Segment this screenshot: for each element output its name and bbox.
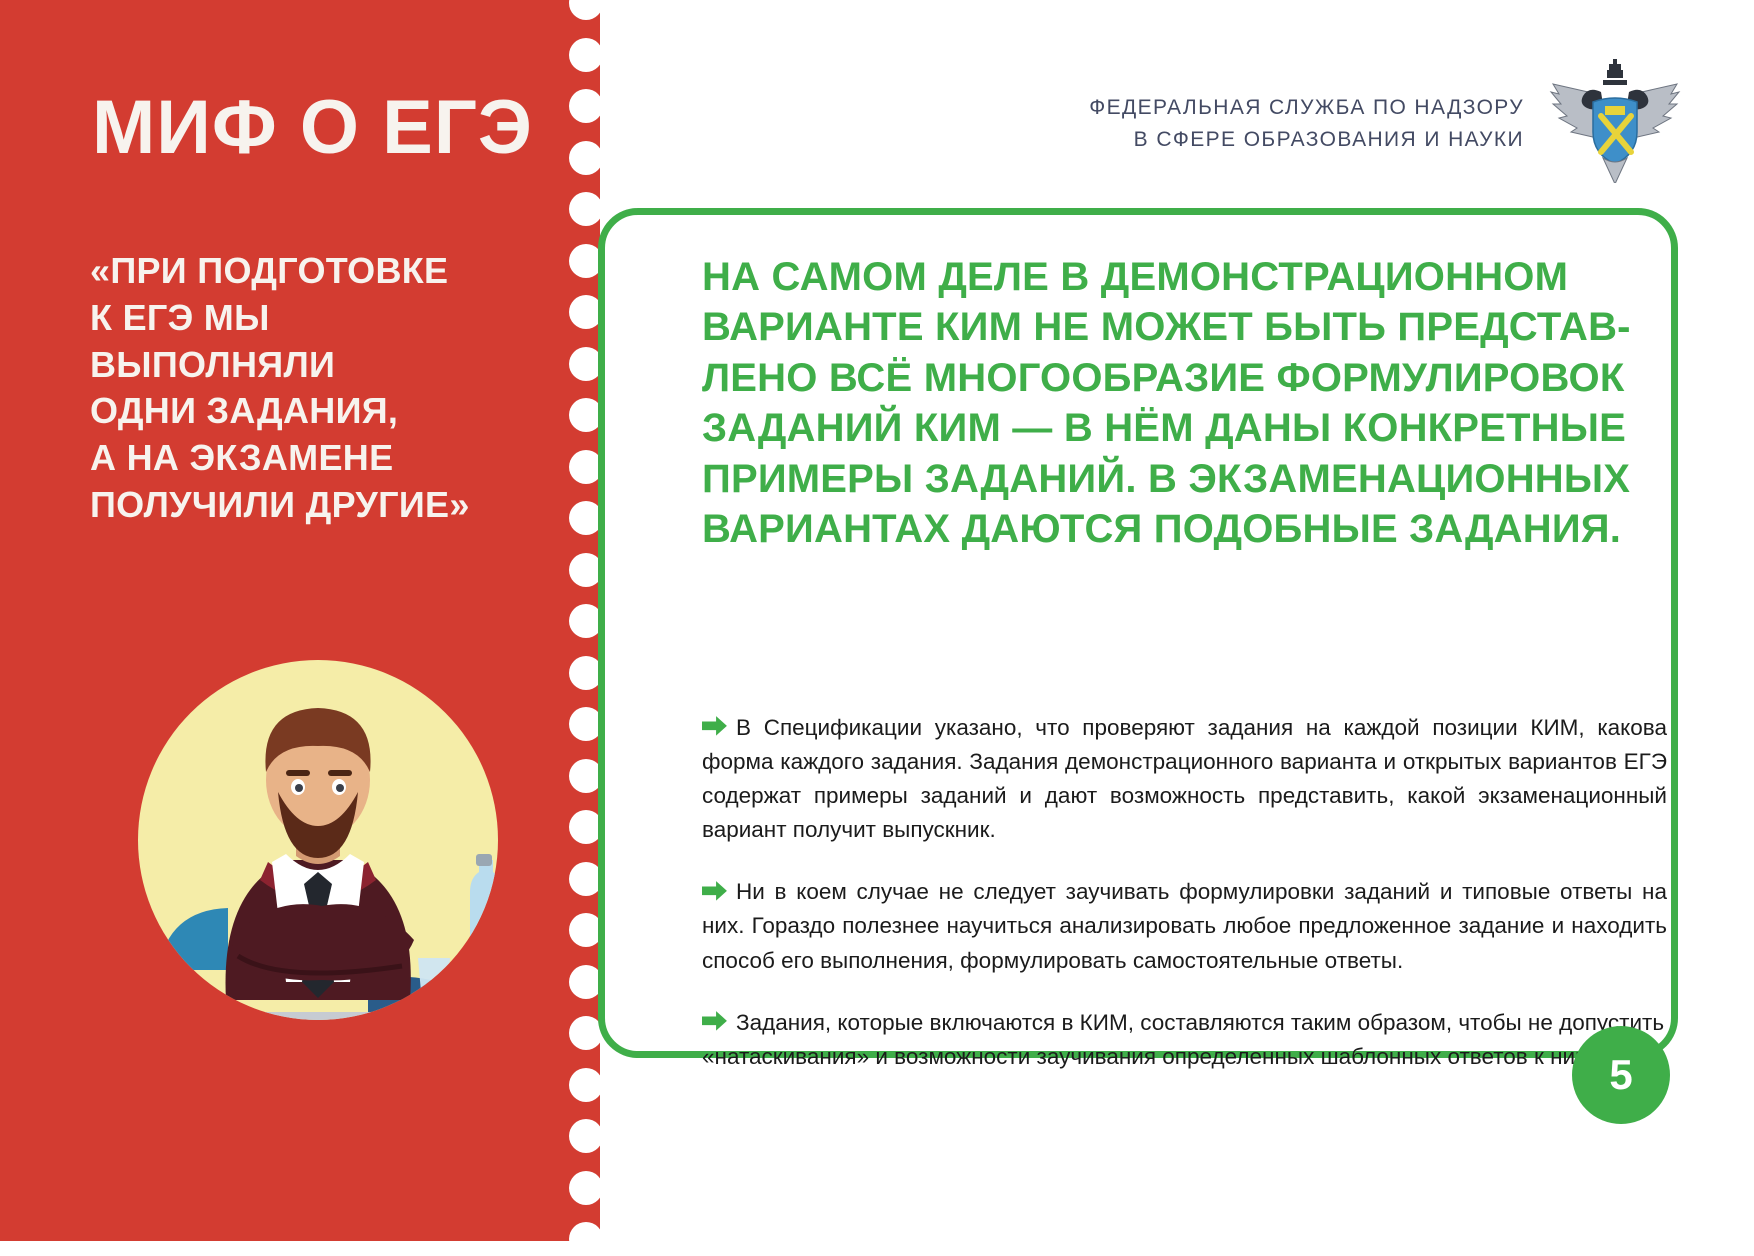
agency-header: ФЕДЕРАЛЬНАЯ СЛУЖБА ПО НАДЗОРУ В СФЕРЕ ОБ… — [1004, 92, 1524, 155]
headline-line: НА САМОМ ДЕЛЕ В ДЕМОНСТРАЦИОННОМ — [702, 252, 1652, 302]
quote-line: ВЫПОЛНЯЛИ — [90, 342, 560, 389]
body-paragraph: Ни в коем случае не следует заучивать фо… — [702, 875, 1667, 978]
headline-line: ПРИМЕРЫ ЗАДАНИЙ. В ЭКЗАМЕНАЦИОННЫХ — [702, 454, 1652, 504]
body-paragraph-list: В Спецификации указано, что проверяют за… — [702, 688, 1667, 1074]
headline-line: ВАРИАНТЕ КИМ НЕ МОЖЕТ БЫТЬ ПРЕДСТАВ- — [702, 302, 1652, 352]
rosobrnadzor-emblem-icon — [1545, 58, 1685, 183]
answer-headline: НА САМОМ ДЕЛЕ В ДЕМОНСТРАЦИОННОМ ВАРИАНТ… — [702, 252, 1652, 554]
perforation-hole — [569, 1171, 603, 1205]
left-red-panel: МИФ О ЕГЭ «ПРИ ПОДГОТОВКЕ К ЕГЭ МЫ ВЫПОЛ… — [0, 0, 600, 1241]
agency-name-line-1: ФЕДЕРАЛЬНАЯ СЛУЖБА ПО НАДЗОРУ — [1004, 92, 1524, 124]
page-title-text: МИФ О ЕГЭ — [92, 85, 533, 170]
arrow-right-icon — [702, 1010, 728, 1032]
page-title: МИФ О ЕГЭ — [92, 92, 562, 164]
perforation-hole — [569, 141, 603, 175]
quote-line: К ЕГЭ МЫ — [90, 295, 560, 342]
myth-quote: «ПРИ ПОДГОТОВКЕ К ЕГЭ МЫ ВЫПОЛНЯЛИ ОДНИ … — [90, 248, 560, 529]
headline-line: ЛЕНО ВСЁ МНОГООБРАЗИЕ ФОРМУЛИРОВОК — [702, 353, 1652, 403]
perforation-hole — [569, 192, 603, 226]
arrow-right-icon — [702, 880, 728, 902]
arrow-right-icon — [702, 715, 728, 737]
quote-line: «ПРИ ПОДГОТОВКЕ — [90, 248, 560, 295]
quote-line: ПОЛУЧИЛИ ДРУГИЕ» — [90, 482, 560, 529]
perforation-hole — [569, 1119, 603, 1153]
quote-line: ОДНИ ЗАДАНИЯ, — [90, 388, 560, 435]
man-at-desk-illustration — [118, 640, 518, 1040]
perforation-hole — [569, 1222, 603, 1256]
perforation-hole — [569, 38, 603, 72]
headline-line: ВАРИАНТАХ ДАЮТСЯ ПОДОБНЫЕ ЗАДАНИЯ. — [702, 504, 1652, 554]
page-number-badge: 5 — [1572, 1026, 1670, 1124]
body-paragraph-text: Ни в коем случае не следует заучивать фо… — [702, 879, 1667, 972]
body-paragraph: Задания, которые включаются в КИМ, соста… — [702, 1006, 1667, 1074]
quote-line: А НА ЭКЗАМЕНЕ — [90, 435, 560, 482]
body-paragraph-text: В Спецификации указано, что проверяют за… — [702, 715, 1667, 843]
perforation-hole — [569, 1068, 603, 1102]
perforation-hole — [569, 89, 603, 123]
perforation-hole — [569, 0, 603, 20]
agency-name-line-2: В СФЕРЕ ОБРАЗОВАНИЯ И НАУКИ — [1004, 124, 1524, 156]
body-paragraph-text: Задания, которые включаются в КИМ, соста… — [702, 1010, 1664, 1069]
headline-line: ЗАДАНИЙ КИМ — В НЁМ ДАНЫ КОНКРЕТНЫЕ — [702, 403, 1652, 453]
body-paragraph: В Спецификации указано, что проверяют за… — [702, 711, 1667, 848]
page-number-text: 5 — [1609, 1051, 1632, 1099]
